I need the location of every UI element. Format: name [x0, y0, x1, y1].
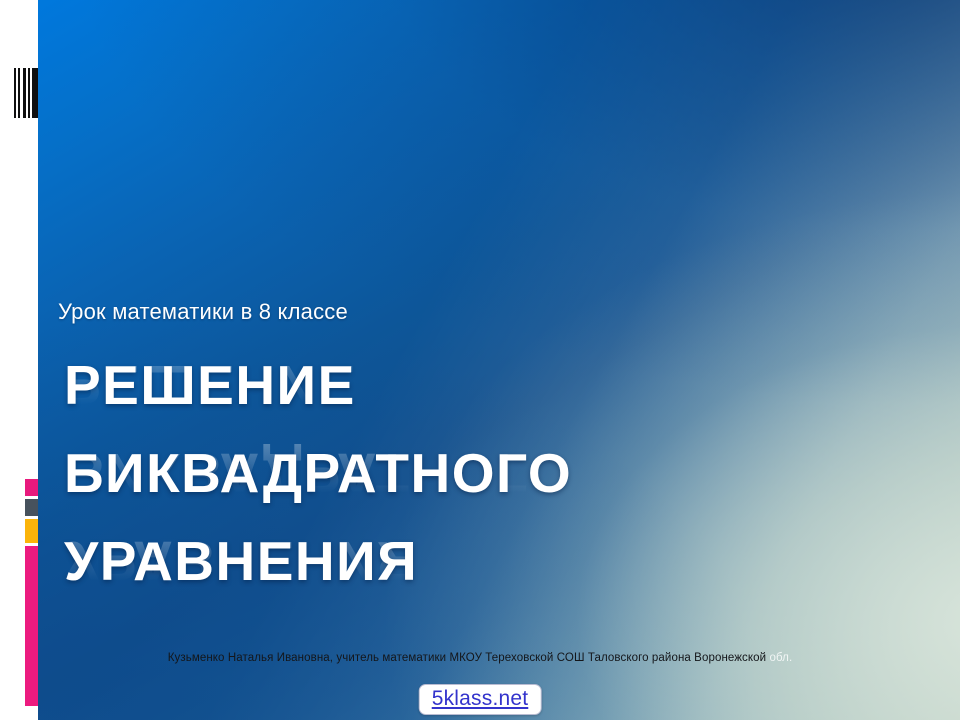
author-credit-region: обл. — [766, 652, 792, 664]
author-credit-main: Кузьменко Наталья Ивановна, учитель мате… — [168, 652, 766, 664]
slide-title: РЕШЕНИЕ РЕШЕНИЕ БИКВАДРАТНОГО БИКВАДРАТН… — [64, 356, 764, 620]
slide-subtitle: Урок математики в 8 классе — [58, 299, 348, 325]
decor-chip-magenta-small — [25, 479, 38, 496]
title-line-3-text: УРАВНЕНИЯ — [64, 532, 418, 590]
title-line-2-text: БИКВАДРАТНОГО — [64, 444, 572, 502]
title-line-1-text: РЕШЕНИЕ — [64, 356, 356, 414]
decor-chip-magenta-large — [25, 546, 38, 706]
barcode-icon — [14, 68, 38, 118]
title-line-3: УРАВНЕНИЯ УРАВНЕНИЯ — [64, 532, 764, 620]
title-line-1: РЕШЕНИЕ РЕШЕНИЕ — [64, 356, 764, 444]
watermark-badge[interactable]: 5klass.net — [419, 684, 542, 715]
author-credit: Кузьменко Наталья Ивановна, учитель мате… — [0, 652, 960, 664]
presentation-slide: Урок математики в 8 классе РЕШЕНИЕ РЕШЕН… — [0, 0, 960, 720]
watermark-link[interactable]: 5klass.net — [432, 687, 529, 710]
title-line-2: БИКВАДРАТНОГО БИКВАДРАТНОГО — [64, 444, 764, 532]
decor-chip-gold — [25, 519, 38, 543]
decor-chip-slate — [25, 499, 38, 516]
